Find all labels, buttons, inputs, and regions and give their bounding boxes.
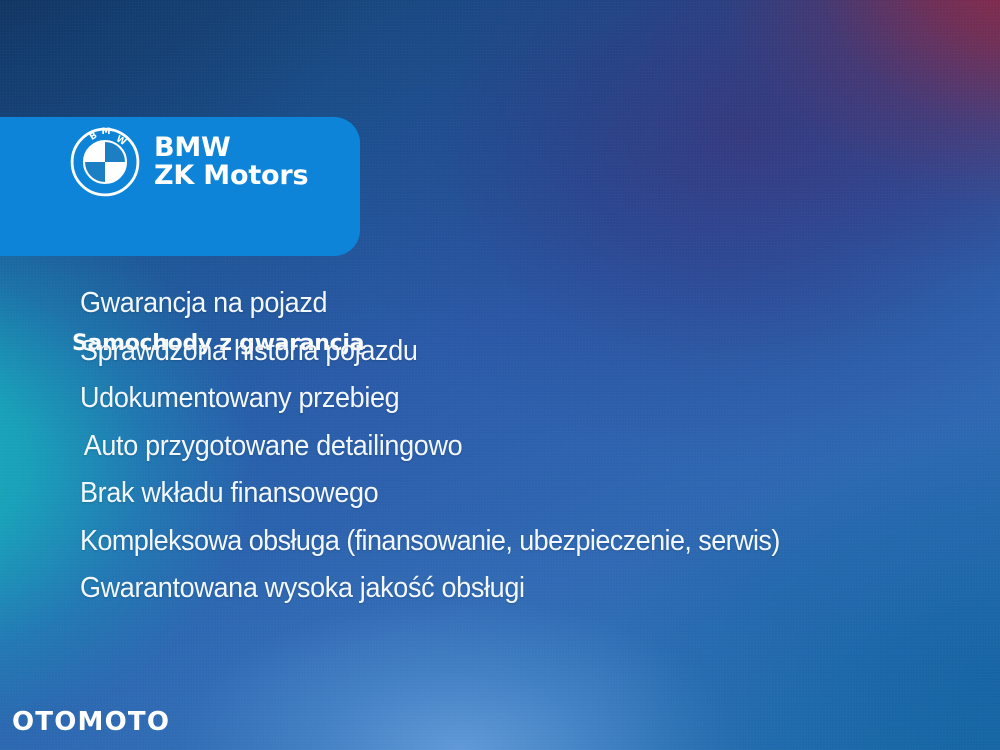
list-item: Brak wkładu finansowego — [80, 470, 917, 518]
svg-text:B: B — [88, 131, 99, 143]
list-item: Gwarantowana wysoka jakość obsługi — [80, 565, 917, 613]
dealer-badge-header: B M W BMW ZK Motors — [0, 127, 308, 197]
dealer-name-line: ZK Motors — [154, 162, 308, 190]
otomoto-watermark-logo: OTOMOTO — [12, 709, 170, 735]
list-item: Kompleksowa obsługa (finansowanie, ubezp… — [80, 518, 917, 566]
bmw-roundel-icon: B M W — [70, 127, 140, 197]
dealer-name-block: BMW ZK Motors — [154, 134, 308, 190]
svg-text:M: M — [102, 127, 111, 137]
list-item: Sprawdzona historia pojazdu — [80, 328, 917, 376]
promo-banner: B M W BMW ZK Motors Samochody z gwarancj… — [0, 0, 1000, 750]
list-item: Auto przygotowane detailingowo — [80, 423, 917, 471]
list-item: Gwarancja na pojazd — [80, 280, 917, 328]
feature-list: Gwarancja na pojazd Sprawdzona historia … — [80, 280, 980, 613]
list-item: Udokumentowany przebieg — [80, 375, 917, 423]
dealer-brand-line: BMW — [154, 134, 308, 162]
dealer-badge: B M W BMW ZK Motors Samochody z gwarancj… — [0, 117, 360, 256]
